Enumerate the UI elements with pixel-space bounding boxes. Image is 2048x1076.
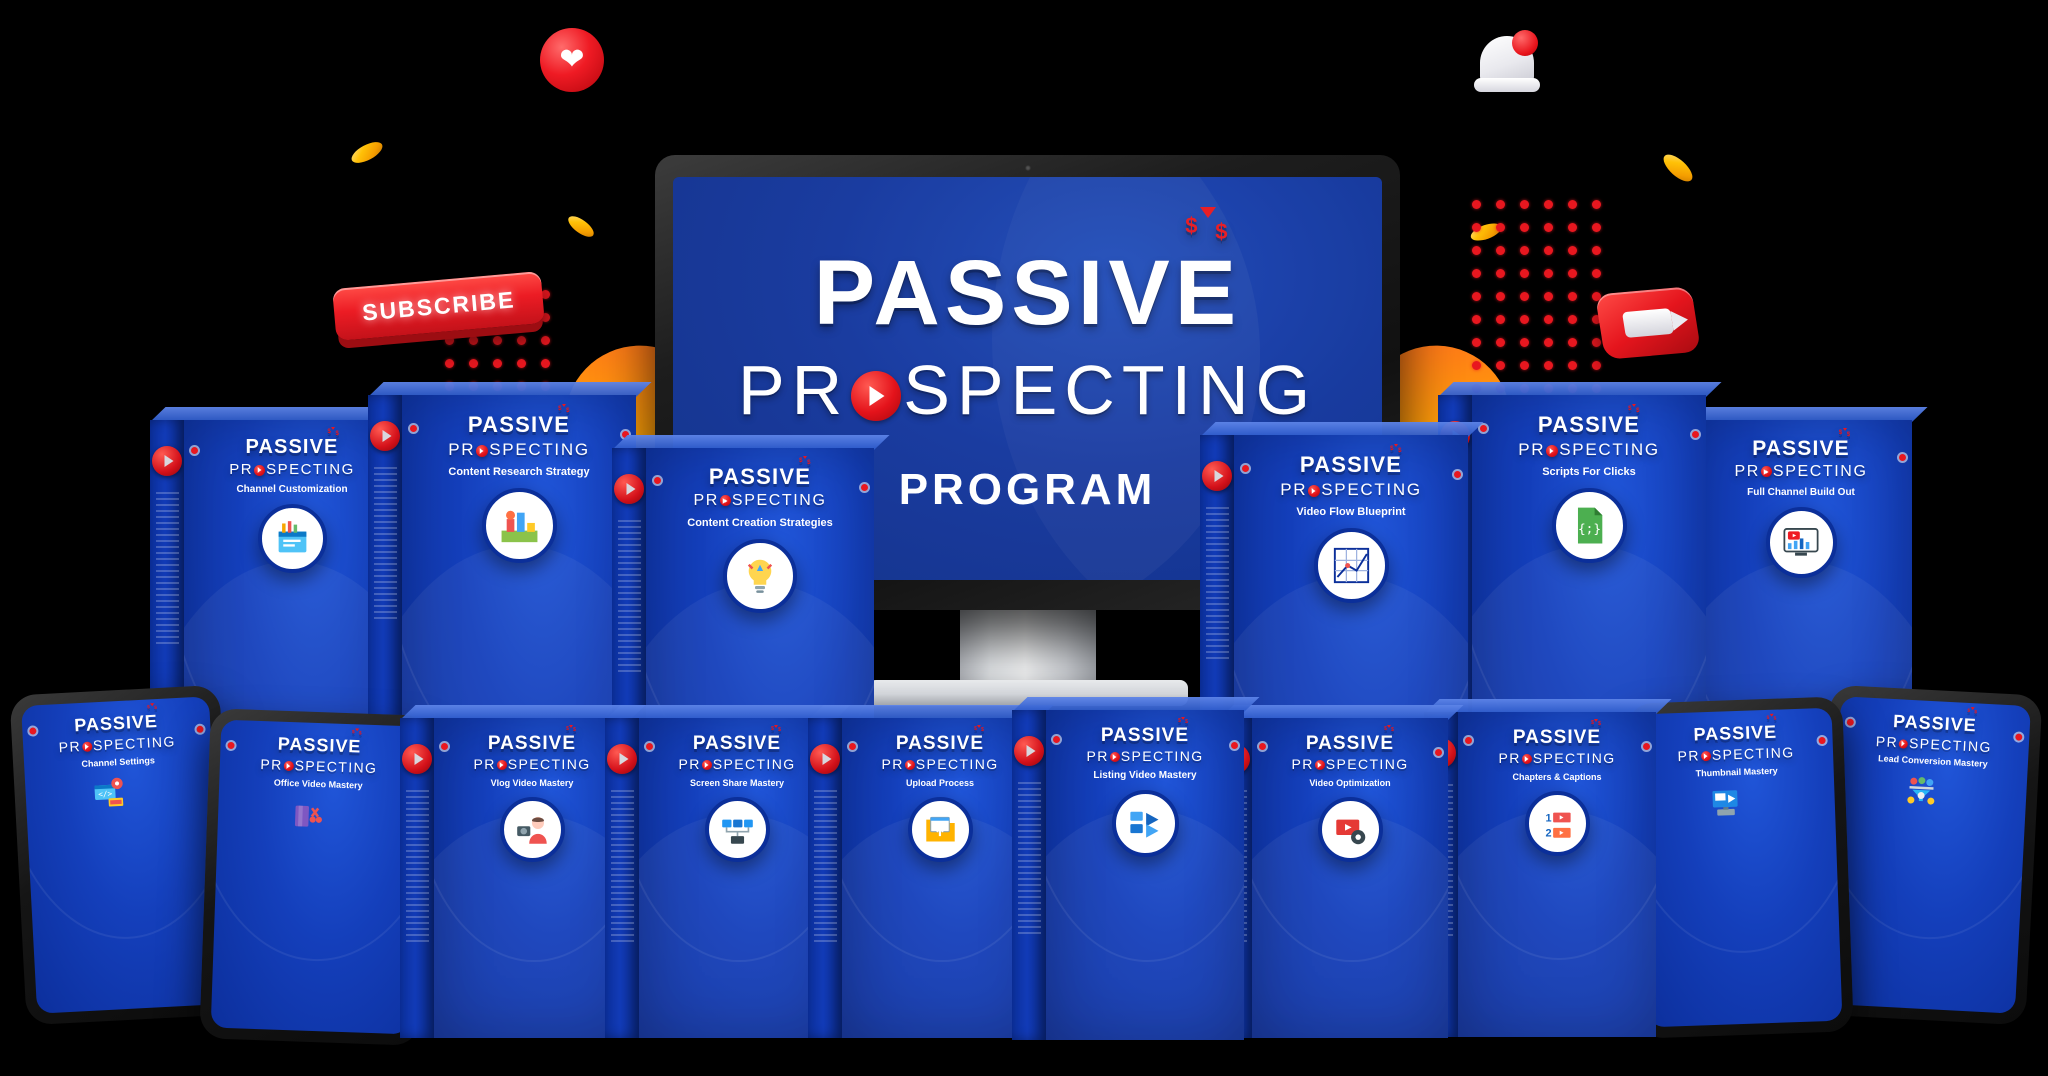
box-front-face: PASSIVE$$PRSPECTINGChapters & Captions12 xyxy=(1458,712,1656,1037)
box-brand-lockup: PASSIVE$$PRSPECTING xyxy=(1876,711,1994,754)
box-title-line2-pr: PR xyxy=(1875,733,1898,750)
box-title-line2-rest: SPECTING xyxy=(93,733,176,753)
box-title-line2-rest: SPECTING xyxy=(1909,735,1992,755)
monitor-webcam-icon xyxy=(1025,165,1031,171)
accent-dot xyxy=(196,726,203,733)
accent-dot xyxy=(861,484,868,491)
product-icon-circle xyxy=(482,488,557,563)
accent-dot xyxy=(1259,743,1266,750)
play-circle-icon xyxy=(810,744,840,774)
product-icon-circle xyxy=(1318,797,1383,862)
play-triangle-icon xyxy=(500,763,503,767)
video-gear-icon xyxy=(1333,812,1368,847)
box-title-line1: PASSIVE xyxy=(1513,727,1601,748)
grid-dot xyxy=(1568,246,1577,255)
box-title-line2-rest: SPECTING xyxy=(1773,463,1868,480)
product-icon-circle xyxy=(258,504,327,573)
play-circle-icon xyxy=(1899,739,1908,748)
product-box[interactable]: PASSIVE$$PRSPECTINGChapters & Captions12 xyxy=(1424,712,1656,1037)
play-triangle-icon xyxy=(908,763,911,767)
grid-dot xyxy=(1544,223,1553,232)
box-title-line2-rest: SPECTING xyxy=(732,492,827,509)
flow-grid-icon xyxy=(1331,545,1372,586)
play-triangle-icon xyxy=(1313,489,1316,493)
product-title: Lead Conversion Mastery xyxy=(1868,753,1998,770)
monitor-neck xyxy=(960,610,1096,685)
grid-dot xyxy=(541,336,550,345)
spine-text-lines xyxy=(1018,782,1041,938)
play-circle-icon xyxy=(1110,752,1120,762)
grid-dot xyxy=(1472,315,1481,324)
play-circle-icon xyxy=(720,495,731,506)
hero-title-line2-rest: SPECTING xyxy=(903,351,1317,429)
accent-dot xyxy=(1053,736,1060,743)
grid-dot xyxy=(1520,315,1529,324)
product-title: Upload Process xyxy=(898,778,982,789)
grid-dot xyxy=(469,359,478,368)
play-circle-icon xyxy=(1546,445,1558,457)
spine-text-lines xyxy=(156,492,179,648)
spine-text-lines xyxy=(618,520,641,676)
box-title-line1: PASSIVE xyxy=(74,711,159,735)
grid-dot xyxy=(1568,338,1577,347)
product-tablet[interactable]: PASSIVE$$PRSPECTINGThumbnail Mastery xyxy=(1626,696,1854,1038)
box-brand-lockup: PASSIVE$$PRSPECTING xyxy=(448,414,590,458)
play-triangle-icon xyxy=(705,763,708,767)
notification-bell-icon xyxy=(1472,26,1544,100)
grid-dot xyxy=(1544,361,1553,370)
grid-dot xyxy=(1568,223,1577,232)
play-circle-icon xyxy=(1308,485,1320,497)
gold-coin-icon xyxy=(348,138,385,167)
accent-dot xyxy=(1899,454,1906,461)
grid-dot xyxy=(517,359,526,368)
play-triangle-icon xyxy=(1765,470,1768,474)
play-triangle-icon xyxy=(1113,755,1116,759)
box-title-line1: PASSIVE xyxy=(1306,733,1394,754)
grid-dot xyxy=(1520,361,1529,370)
product-icon-circle xyxy=(1903,772,1959,828)
grid-dot xyxy=(1472,246,1481,255)
grid-dot xyxy=(1544,315,1553,324)
product-icon-circle xyxy=(723,539,797,613)
product-title: Thumbnail Mastery xyxy=(1686,765,1788,779)
box-title-line1: PASSIVE xyxy=(1693,722,1777,745)
product-icon-circle: 12 xyxy=(1525,791,1590,856)
grid-dot xyxy=(1472,269,1481,278)
box-title-line1: PASSIVE xyxy=(1752,437,1850,460)
product-icon-circle xyxy=(1710,784,1766,840)
gold-coin-icon xyxy=(565,212,597,240)
grid-dot xyxy=(1520,269,1529,278)
product-title: Screen Share Mastery xyxy=(682,778,792,789)
spine-text-lines xyxy=(814,790,837,946)
grid-dot xyxy=(1496,315,1505,324)
box-title-line2-pr: PR xyxy=(260,756,283,773)
spine-text-lines xyxy=(1206,507,1229,663)
screen-share-icon xyxy=(720,812,755,847)
play-triangle-icon xyxy=(1704,754,1707,758)
accent-dot xyxy=(1643,743,1650,750)
grid-dot xyxy=(493,359,502,368)
svg-text:2: 2 xyxy=(1545,827,1551,839)
play-circle-icon xyxy=(702,760,712,770)
play-triangle-icon xyxy=(1525,757,1528,761)
box-title-line2-pr: PR xyxy=(1291,756,1313,772)
channel-dashboard-icon xyxy=(1782,523,1820,561)
gold-coin-icon xyxy=(1659,150,1696,186)
product-icon-circle xyxy=(908,797,973,862)
play-triangle-icon xyxy=(724,499,727,503)
box-front-face: PASSIVE$$PRSPECTINGScreen Share Mastery xyxy=(639,718,835,1038)
accent-dot xyxy=(1231,742,1238,749)
product-title: Scripts For Clicks xyxy=(1534,466,1644,479)
box-title-line2-pr: PR xyxy=(693,492,718,509)
box-title-line2-pr: PR xyxy=(473,756,495,772)
box-title-line2-pr: PR xyxy=(1677,747,1700,764)
box-title-line2-pr: PR xyxy=(229,461,253,478)
thumbnail-editor-icon xyxy=(1710,784,1744,818)
accent-dot xyxy=(1847,719,1854,726)
box-front-face: PASSIVE$$PRSPECTINGVideo Optimization xyxy=(1252,718,1448,1038)
accent-dot xyxy=(1692,431,1699,438)
editing-kit-icon xyxy=(290,796,324,830)
product-icon-circle xyxy=(1314,528,1389,603)
box-title-line2-rest: SPECTING xyxy=(713,756,796,772)
box-brand-lockup: PASSIVE$$PRSPECTING xyxy=(1677,722,1795,763)
box-brand-lockup: PASSIVE$$PRSPECTING xyxy=(57,711,176,754)
box-brand-lockup: PASSIVE$$PRSPECTING xyxy=(1280,454,1422,498)
grid-dot xyxy=(1472,338,1481,347)
box-brand-lockup: PASSIVE$$PRSPECTING xyxy=(1734,438,1867,480)
vlogger-camera-icon xyxy=(515,812,550,847)
play-triangle-icon xyxy=(870,386,885,406)
listing-play-icon xyxy=(1127,805,1163,841)
box-title-line2-rest: SPECTING xyxy=(1321,480,1422,499)
play-triangle-icon xyxy=(287,764,290,768)
box-title-line2-rest: SPECTING xyxy=(266,461,355,478)
grid-dot xyxy=(1544,338,1553,347)
svg-text:</>: </> xyxy=(98,789,113,799)
grid-dot xyxy=(1592,338,1601,347)
box-title-line1: PASSIVE xyxy=(1538,412,1640,437)
product-mockup-scene: ❤ SUBSCRIBE PASSIVE $ $ xyxy=(0,0,2048,1076)
box-title-line2-rest: SPECTING xyxy=(916,756,999,772)
box-front-face: PASSIVE$$PRSPECTINGListing Video Mastery xyxy=(1046,710,1244,1040)
accent-dot xyxy=(410,425,417,432)
grid-dot xyxy=(1472,361,1481,370)
box-title-line1: PASSIVE xyxy=(896,733,984,754)
play-circle-icon xyxy=(1701,751,1711,761)
box-title-line2-pr: PR xyxy=(1734,463,1759,480)
svg-text:1: 1 xyxy=(1545,812,1551,824)
box-title-line2-rest: SPECTING xyxy=(1326,756,1409,772)
box-title-line2-pr: PR xyxy=(448,440,475,459)
box-title-line2-pr: PR xyxy=(1280,480,1307,499)
grid-dot xyxy=(1568,361,1577,370)
box-brand-lockup: PASSIVE$$PRSPECTING xyxy=(1498,728,1615,765)
product-tablet-screen: PASSIVE$$PRSPECTINGChannel Settings</> xyxy=(21,696,225,1013)
product-box[interactable]: PASSIVE$$PRSPECTINGScreen Share Mastery xyxy=(605,718,835,1038)
grid-dot xyxy=(493,336,502,345)
play-triangle-icon xyxy=(481,449,484,453)
grid-dot xyxy=(1496,246,1505,255)
play-circle-icon xyxy=(1761,466,1772,477)
grid-dot xyxy=(1592,223,1601,232)
product-box[interactable]: PASSIVE$$PRSPECTINGVlog Video Mastery xyxy=(400,718,630,1038)
grid-dot xyxy=(1544,269,1553,278)
product-icon-circle xyxy=(705,797,770,862)
video-camera-button-icon xyxy=(1595,286,1701,360)
product-title: Content Creation Strategies xyxy=(679,517,840,530)
product-title: Vlog Video Mastery xyxy=(483,778,582,789)
box-front-face: PASSIVE$$PRSPECTINGVlog Video Mastery xyxy=(434,718,630,1038)
grid-dot xyxy=(1520,246,1529,255)
grid-dot xyxy=(1592,246,1601,255)
play-circle-icon xyxy=(82,742,93,753)
product-box[interactable]: PASSIVE$$PRSPECTINGVideo Optimization xyxy=(1218,718,1448,1038)
box-title-line2-rest: SPECTING xyxy=(294,757,377,776)
grid-dot xyxy=(1544,292,1553,301)
product-icon-circle xyxy=(1112,790,1179,857)
accent-dot xyxy=(227,742,234,749)
box-title-line1: PASSIVE xyxy=(709,464,811,489)
grid-dot xyxy=(1496,361,1505,370)
grid-dot xyxy=(1520,200,1529,209)
research-chart-icon xyxy=(499,505,540,546)
grid-dot xyxy=(1496,292,1505,301)
accent-dot xyxy=(441,743,448,750)
box-title-line1: PASSIVE xyxy=(246,436,339,458)
product-icon-circle xyxy=(500,797,565,862)
grid-dot xyxy=(1520,223,1529,232)
box-title-line2-pr: PR xyxy=(1518,440,1545,459)
accent-dot xyxy=(1818,737,1825,744)
box-title-line2-rest: SPECTING xyxy=(1121,748,1204,764)
product-tablet[interactable]: PASSIVE$$PRSPECTINGOffice Video Mastery xyxy=(199,708,430,1045)
box-spine xyxy=(400,718,434,1038)
box-title-line2-pr: PR xyxy=(58,738,81,755)
box-title-line2-rest: SPECTING xyxy=(1533,750,1616,766)
product-title: Content Research Strategy xyxy=(440,466,597,479)
camera-glyph xyxy=(1622,308,1674,338)
product-title: Full Channel Build Out xyxy=(1739,487,1863,499)
play-circle-icon xyxy=(1202,461,1232,491)
box-title-line1: PASSIVE xyxy=(693,733,781,754)
product-title: Listing Video Mastery xyxy=(1085,770,1204,782)
product-icon-circle xyxy=(289,796,345,852)
play-triangle-icon xyxy=(1903,743,1905,745)
play-circle-icon xyxy=(497,760,507,770)
play-circle-icon xyxy=(402,744,432,774)
box-title-line1: PASSIVE xyxy=(1101,725,1189,746)
product-tablet-screen: PASSIVE$$PRSPECTINGLead Conversion Maste… xyxy=(1825,696,2031,1014)
box-spine xyxy=(808,718,842,1038)
product-box[interactable]: PASSIVE$$PRSPECTINGListing Video Mastery xyxy=(1012,710,1244,1040)
grid-dot xyxy=(1496,338,1505,347)
heart-badge-icon: ❤ xyxy=(540,28,604,92)
accent-dot xyxy=(646,743,653,750)
product-icon-circle: {;} xyxy=(1552,488,1627,563)
grid-dot xyxy=(1472,292,1481,301)
accent-dot xyxy=(29,727,36,734)
box-brand-lockup: PASSIVE$$PRSPECTING xyxy=(881,734,998,771)
accent-dot xyxy=(1242,465,1249,472)
accent-dot xyxy=(2015,733,2022,740)
product-tablet-screen: PASSIVE$$PRSPECTINGThumbnail Mastery xyxy=(1638,708,1843,1028)
box-spine xyxy=(605,718,639,1038)
grid-dot xyxy=(1592,200,1601,209)
box-brand-lockup: PASSIVE$$PRSPECTING xyxy=(678,734,795,771)
grid-dot xyxy=(517,336,526,345)
product-title: Channel Customization xyxy=(228,484,355,496)
play-circle-icon xyxy=(607,744,637,774)
spine-text-lines xyxy=(611,790,634,946)
box-title-line2-rest: SPECTING xyxy=(489,440,590,459)
box-title-line1: PASSIVE xyxy=(488,733,576,754)
grid-dot xyxy=(1544,246,1553,255)
play-circle-icon xyxy=(152,446,182,476)
play-circle-icon xyxy=(905,760,915,770)
box-brand-lockup: PASSIVE$$PRSPECTING xyxy=(260,734,378,775)
grid-dot xyxy=(1496,200,1505,209)
play-circle-icon xyxy=(1522,754,1532,764)
accent-dot xyxy=(191,447,198,454)
product-icon-circle xyxy=(1766,507,1837,578)
spine-text-lines xyxy=(374,467,397,623)
play-circle-icon xyxy=(851,371,901,421)
product-title: Channel Settings xyxy=(71,755,165,770)
chapters-list-icon: 12 xyxy=(1540,806,1575,841)
play-triangle-icon xyxy=(258,468,261,472)
box-title-line1: PASSIVE xyxy=(277,734,361,757)
grid-dot xyxy=(1568,200,1577,209)
product-icon-circle: </> xyxy=(92,773,149,830)
accent-dot xyxy=(654,477,661,484)
box-title-line1: PASSIVE xyxy=(1893,711,1978,735)
bell-notification-dot xyxy=(1512,30,1538,56)
upload-folder-icon xyxy=(923,812,958,847)
grid-dot xyxy=(1592,361,1601,370)
lead-funnel-icon xyxy=(1904,772,1938,806)
product-tablet-screen: PASSIVE$$PRSPECTINGOffice Video Mastery xyxy=(211,720,420,1035)
box-title-line2-rest: SPECTING xyxy=(508,756,591,772)
box-title-line1: PASSIVE xyxy=(1300,452,1402,477)
box-title-line2-rest: SPECTING xyxy=(1712,744,1795,763)
play-circle-icon xyxy=(1315,760,1325,770)
grid-dot xyxy=(1520,338,1529,347)
play-circle-icon xyxy=(283,761,293,771)
grid-dot xyxy=(1472,223,1481,232)
idea-bulb-icon xyxy=(740,556,780,596)
bell-lip xyxy=(1474,78,1540,92)
box-title-line2-pr: PR xyxy=(1498,750,1520,766)
grid-dot xyxy=(1568,292,1577,301)
product-title: Chapters & Captions xyxy=(1504,772,1609,783)
box-title-line2-pr: PR xyxy=(1086,748,1108,764)
spine-text-lines xyxy=(406,790,429,946)
hero-title-line1: PASSIVE xyxy=(814,242,1241,344)
box-brand-lockup: PASSIVE$$PRSPECTING xyxy=(693,466,826,509)
accent-dot xyxy=(1480,425,1487,432)
grid-dot xyxy=(1472,200,1481,209)
hero-title-line2-pr: PR xyxy=(738,351,849,429)
grid-dot xyxy=(469,336,478,345)
box-title-line2-rest: SPECTING xyxy=(1559,440,1660,459)
play-circle-icon xyxy=(476,445,488,457)
product-title: Video Optimization xyxy=(1301,778,1398,789)
grid-dot xyxy=(1496,269,1505,278)
code-settings-icon: </> xyxy=(92,774,127,809)
grid-dot xyxy=(1496,223,1505,232)
play-circle-icon xyxy=(1014,736,1044,766)
svg-text:{;}: {;} xyxy=(1577,522,1600,537)
product-title: Office Video Mastery xyxy=(264,777,373,791)
box-spine xyxy=(1012,710,1046,1040)
heart-glyph: ❤ xyxy=(559,45,584,75)
grid-dot xyxy=(445,336,454,345)
box-brand-lockup: PASSIVE$$PRSPECTING xyxy=(473,734,590,771)
box-title-line2-pr: PR xyxy=(678,756,700,772)
grid-dot xyxy=(1592,269,1601,278)
grid-dot xyxy=(541,359,550,368)
box-title-line1: PASSIVE xyxy=(468,412,570,437)
play-circle-icon xyxy=(254,465,265,476)
accent-dot xyxy=(1465,737,1472,744)
grid-dot xyxy=(1568,315,1577,324)
accent-dot xyxy=(1454,471,1461,478)
box-front-face: PASSIVE$$PRSPECTINGUpload Process xyxy=(842,718,1038,1038)
accent-dot xyxy=(1435,749,1442,756)
box-brand-lockup: PASSIVE$$PRSPECTING xyxy=(1086,726,1203,763)
accent-dot xyxy=(849,743,856,750)
play-circle-icon xyxy=(370,421,400,451)
play-circle-icon xyxy=(614,474,644,504)
play-triangle-icon xyxy=(1318,763,1321,767)
play-triangle-icon xyxy=(1551,449,1554,453)
play-triangle-icon xyxy=(86,745,89,749)
design-tools-icon xyxy=(274,520,311,557)
product-box[interactable]: PASSIVE$$PRSPECTINGUpload Process xyxy=(808,718,1038,1038)
grid-dot xyxy=(1544,200,1553,209)
box-title-line2-pr: PR xyxy=(881,756,903,772)
grid-dot xyxy=(1520,292,1529,301)
box-brand-lockup: PASSIVE$$PRSPECTING xyxy=(1518,414,1660,458)
script-file-icon: {;} xyxy=(1569,505,1610,546)
product-title: Video Flow Blueprint xyxy=(1288,506,1413,519)
box-brand-lockup: PASSIVE$$PRSPECTING xyxy=(229,437,355,477)
grid-dot xyxy=(1568,269,1577,278)
box-brand-lockup: PASSIVE$$PRSPECTING xyxy=(1291,734,1408,771)
grid-dot xyxy=(445,359,454,368)
